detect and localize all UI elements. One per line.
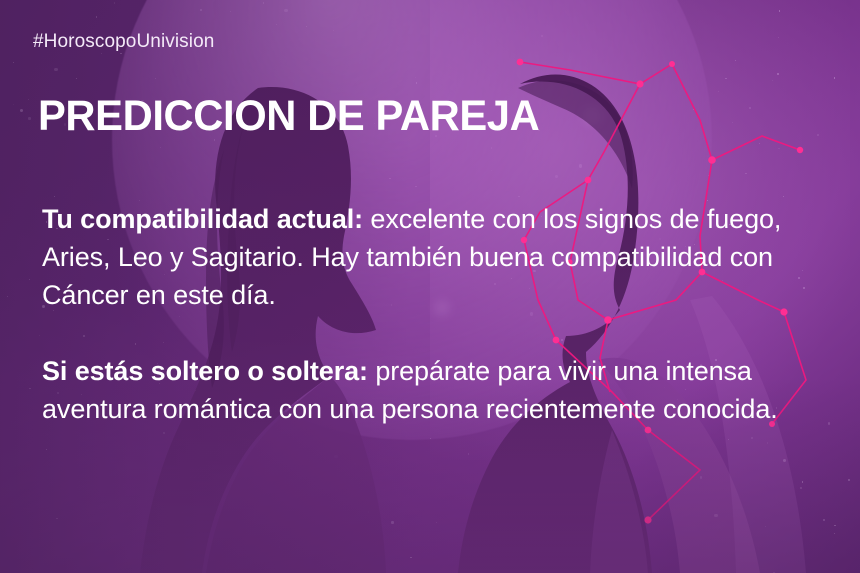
paragraph-single-lead: Si estás soltero o soltera:	[42, 356, 368, 386]
body-copy: Tu compatibilidad actual: excelente con …	[42, 200, 832, 428]
horoscope-card: #HoroscopoUnivision PREDICCION DE PAREJA…	[0, 0, 860, 573]
hashtag-label: #HoroscopoUnivision	[33, 31, 214, 53]
paragraph-single: Si estás soltero o soltera: prepárate pa…	[42, 352, 832, 428]
paragraph-compatibility-lead: Tu compatibilidad actual:	[42, 204, 363, 234]
page-title: PREDICCION DE PAREJA	[38, 92, 539, 140]
paragraph-compatibility: Tu compatibilidad actual: excelente con …	[42, 200, 832, 314]
text-layer: #HoroscopoUnivision PREDICCION DE PAREJA…	[0, 0, 860, 573]
